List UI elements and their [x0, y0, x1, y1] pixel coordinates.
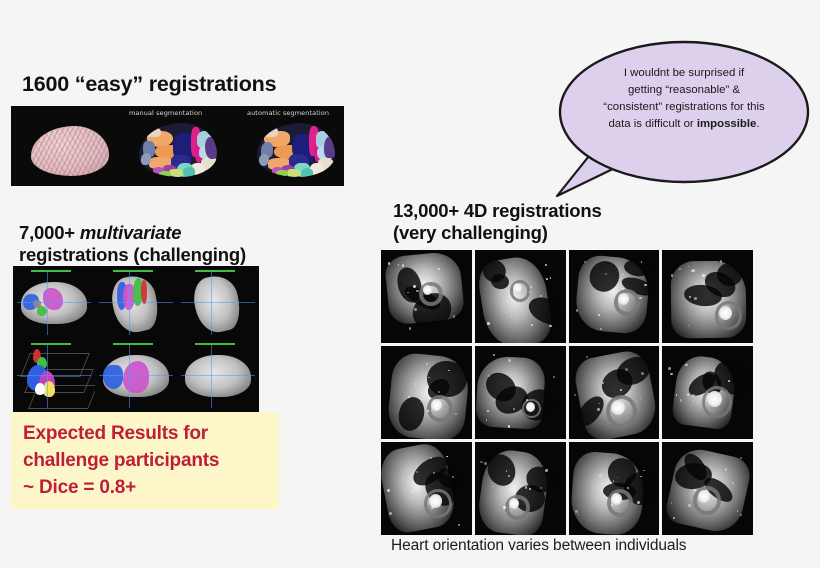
title-multivariate-emphasis: multivariate: [80, 222, 181, 243]
bubble-line-4-suffix: .: [756, 118, 759, 130]
mri-bright-speck: [433, 472, 435, 474]
mri-bright-speck: [584, 261, 586, 263]
ct-viewport-axial-head: [13, 266, 95, 339]
mri-bright-speck: [625, 368, 628, 371]
ct-crosshair-vertical: [47, 272, 48, 335]
mri-bright-speck: [720, 260, 723, 263]
brain-segment-patch: [205, 137, 217, 159]
cardiac-mri-image: [569, 250, 660, 343]
mri-bright-speck: [493, 354, 495, 356]
brain-segment-patch: [301, 168, 313, 177]
bubble-line-2: getting “reasonable” &: [628, 84, 740, 96]
mri-bright-speck: [643, 470, 645, 472]
cardiac-mri-caption: Heart orientation varies between individ…: [391, 537, 686, 555]
ct-anatomy: [185, 355, 251, 397]
mri-blood-pool: [526, 402, 535, 412]
mri-bright-speck: [576, 309, 578, 311]
ct-viewport-sagittal-seg: [95, 266, 177, 339]
ct-anatomy: [190, 272, 245, 336]
brain-segment-patch: [145, 127, 161, 137]
page-title-multivariate-registrations: 7,000+ multivariateregistrations (challe…: [19, 222, 246, 266]
mri-bright-speck: [685, 364, 687, 366]
page-title-easy-registrations: 1600 “easy” registrations: [22, 72, 276, 97]
cardiac-mri-image: [662, 250, 753, 343]
mri-bright-speck: [513, 408, 515, 410]
bubble-line-1: I wouldnt be surprised if: [624, 67, 744, 79]
speech-bubble-text: I wouldnt be surprised if getting “reaso…: [577, 65, 791, 133]
mri-bright-speck: [546, 278, 548, 280]
ct-crosshair-horizontal: [99, 375, 173, 376]
mri-bright-speck: [480, 461, 482, 463]
cardiac-mri-grid: [381, 250, 753, 535]
brain-segment-patch: [169, 169, 183, 177]
ct-3d-volume: [35, 383, 45, 395]
mri-blood-pool: [719, 306, 732, 320]
mri-bright-speck: [740, 457, 742, 459]
cardiac-mri-image: [569, 346, 660, 439]
mri-bright-speck: [545, 264, 547, 266]
brain-segment-patch: [276, 170, 288, 177]
mri-bright-speck: [728, 380, 730, 382]
mri-bright-speck: [487, 322, 490, 325]
cardiac-mri-image: [381, 346, 472, 439]
mri-bright-speck: [458, 524, 460, 526]
mri-blood-pool: [698, 490, 710, 503]
cardiac-mri-image: [381, 250, 472, 343]
mri-bright-speck: [637, 501, 640, 504]
brain-segment-patch: [262, 127, 278, 137]
mri-bright-speck: [427, 410, 429, 412]
cardiac-mri-image: [662, 346, 753, 439]
ct-viewport-sagittal-plain: [177, 266, 259, 339]
mri-blood-pool: [618, 293, 629, 305]
mri-bright-speck: [545, 469, 548, 472]
ct-viewport-axial-pelvis-seg: [95, 339, 177, 412]
bubble-line-4-prefix: data is difficult or: [608, 118, 696, 130]
brain-render-plain: [31, 126, 109, 176]
ct-crosshair-horizontal: [17, 302, 91, 303]
mri-bright-speck: [586, 356, 588, 358]
mri-bright-speck: [416, 290, 418, 292]
mri-bright-speck: [740, 514, 742, 516]
brain-segment-patch: [287, 169, 301, 177]
mri-bright-speck: [673, 517, 675, 519]
expected-results-callout: Expected Results for challenge participa…: [11, 412, 279, 509]
mri-bright-speck: [706, 490, 708, 492]
brain-segment-patch: [159, 171, 171, 177]
cardiac-mri-image: [475, 250, 566, 343]
mri-bright-speck: [668, 367, 671, 370]
mri-bright-speck: [430, 457, 432, 459]
ct-crosshair-horizontal: [181, 302, 255, 303]
ct-viewport-axial-pelvis-plain: [177, 339, 259, 412]
mri-bright-speck: [525, 486, 527, 488]
mri-bright-speck: [550, 277, 551, 278]
ct-viewport-render3d: [13, 339, 95, 412]
ct-crosshair-vertical: [129, 345, 130, 408]
mri-bright-speck: [597, 408, 600, 411]
mri-bright-speck: [428, 377, 429, 378]
brain-render-automatic-seg: [257, 123, 335, 177]
mri-bright-speck: [687, 394, 689, 396]
brain-render-manual-seg: [139, 123, 217, 177]
ct-segmentation-overlay: [123, 361, 149, 393]
cardiac-mri-image: [475, 442, 566, 535]
mri-bright-speck: [503, 506, 505, 508]
ct-crosshair-horizontal: [99, 302, 173, 303]
mri-bright-speck: [540, 295, 542, 297]
mri-bright-speck: [574, 394, 576, 396]
bubble-line-3: “consistent” registrations for this: [603, 101, 764, 113]
ct-crosshair-vertical: [129, 272, 130, 335]
mri-bright-speck: [702, 274, 705, 277]
brain-label-automatic-segmentation: automatic segmentation: [247, 109, 329, 117]
mri-bright-speck: [448, 370, 450, 372]
mri-bright-speck: [644, 284, 646, 286]
brain-segment-patch: [141, 153, 151, 165]
brain-segment-patch: [259, 154, 269, 166]
ct-segmentation-overlay: [103, 365, 123, 389]
mri-bright-speck: [692, 269, 695, 272]
brain-segment-patch: [324, 136, 335, 158]
brain-segment-patch: [183, 167, 195, 177]
cardiac-mri-image: [662, 442, 753, 535]
mri-bright-speck: [549, 325, 551, 327]
mri-bright-speck: [680, 399, 682, 401]
page-title-4d-registrations: 13,000+ 4D registrations (very challengi…: [393, 200, 602, 244]
ct-crosshair-horizontal: [17, 375, 91, 376]
title-multivariate-line2: registrations (challenging): [19, 244, 246, 265]
mri-bright-speck: [452, 476, 453, 477]
bubble-line-4-emphasis: impossible: [697, 118, 757, 130]
mri-bright-speck: [670, 373, 673, 376]
mri-bright-speck: [389, 512, 392, 515]
mri-myocardium-ring: [419, 282, 443, 307]
mri-bright-speck: [508, 425, 510, 427]
slide-canvas: 1600 “easy” registrations manual segment…: [0, 0, 820, 568]
mri-bright-speck: [431, 506, 434, 509]
mri-bright-speck: [438, 268, 440, 270]
cardiac-mri-image: [381, 442, 472, 535]
mri-bright-speck: [641, 261, 642, 262]
ct-crosshair-vertical: [211, 345, 212, 408]
mri-bright-speck: [575, 510, 578, 513]
mri-bright-speck: [416, 471, 418, 473]
mri-bright-speck: [446, 456, 447, 458]
mri-bright-speck: [484, 462, 487, 465]
mri-bright-speck: [639, 297, 641, 299]
brain-label-manual-segmentation: manual segmentation: [129, 109, 202, 117]
mri-bright-speck: [553, 376, 555, 378]
cardiac-mri-image: [569, 442, 660, 535]
mri-bright-speck: [402, 264, 404, 266]
mri-bright-speck: [526, 399, 528, 401]
ct-crosshair-vertical: [47, 345, 48, 408]
expected-results-text: Expected Results for challenge participa…: [23, 421, 273, 502]
mri-bright-speck: [679, 268, 681, 270]
mri-blood-pool: [707, 391, 722, 407]
mri-bright-speck: [426, 363, 428, 365]
mri-bright-speck: [689, 296, 690, 297]
speech-bubble: I wouldnt be surprised if getting “reaso…: [545, 38, 810, 203]
ct-crosshair-horizontal: [181, 375, 255, 376]
mri-bright-speck: [409, 327, 412, 330]
title-multivariate-prefix: 7,000+: [19, 222, 80, 243]
cardiac-mri-image: [475, 346, 566, 439]
ct-segmentation-overlay: [43, 288, 63, 310]
ct-segmentation-overlay: [141, 280, 147, 304]
multivariate-ct-viewer-figure: [13, 266, 259, 412]
mri-bright-speck: [694, 297, 697, 300]
ct-crosshair-vertical: [211, 272, 212, 335]
mri-bright-speck: [508, 359, 511, 362]
brain-segmentation-figure: manual segmentation automatic segmentati…: [11, 106, 344, 186]
